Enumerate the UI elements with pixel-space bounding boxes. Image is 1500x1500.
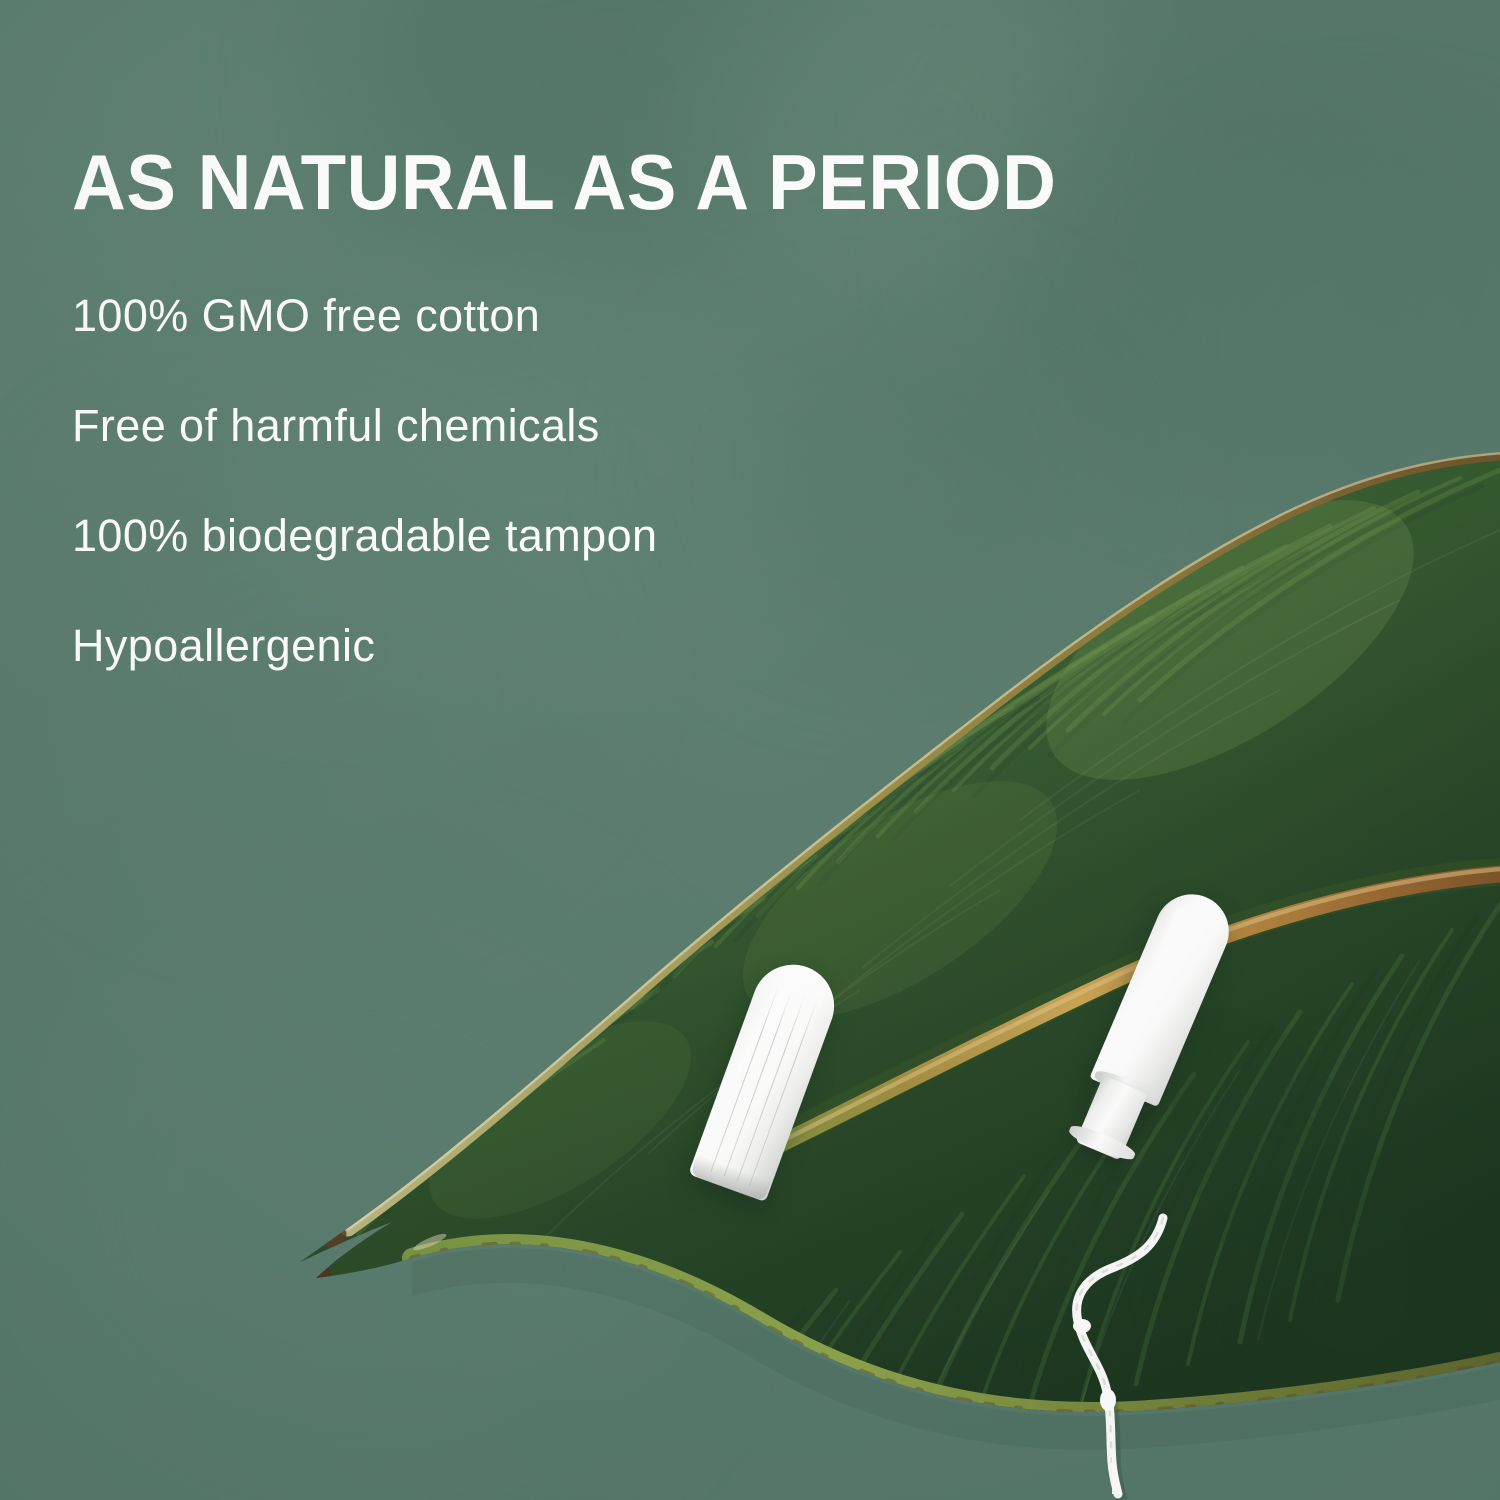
product-feature-image: AS NATURAL AS A PERIOD 100% GMO free cot…	[0, 0, 1500, 1500]
benefit-item: Hypoallergenic	[72, 620, 1472, 672]
benefit-list: 100% GMO free cotton Free of harmful che…	[72, 290, 1472, 672]
copy-block: AS NATURAL AS A PERIOD 100% GMO free cot…	[72, 140, 1472, 730]
benefit-item: Free of harmful chemicals	[72, 400, 1472, 452]
benefit-item: 100% biodegradable tampon	[72, 510, 1472, 562]
benefit-item: 100% GMO free cotton	[72, 290, 1472, 342]
page-title: AS NATURAL AS A PERIOD	[72, 140, 1409, 224]
